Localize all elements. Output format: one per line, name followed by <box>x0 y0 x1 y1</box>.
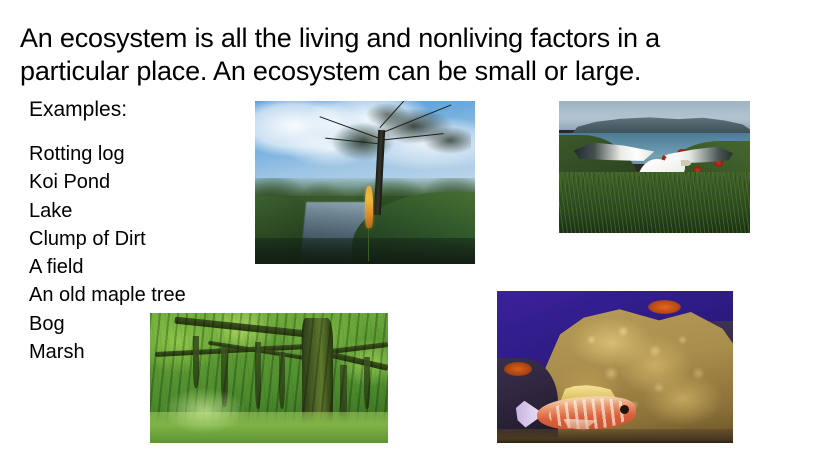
light-glow-layer <box>164 388 245 432</box>
albatross-beak <box>681 160 691 165</box>
tree-canopy-layer <box>321 104 471 169</box>
river-wetland-photo <box>255 101 475 264</box>
mossy-rainforest-photo <box>150 313 388 443</box>
seabed-layer <box>497 429 733 443</box>
coral-reef-photo <box>497 291 733 443</box>
orange-flower <box>365 186 373 228</box>
albatross-coast-photo <box>559 101 750 233</box>
foreground-shadow-layer <box>255 238 475 264</box>
list-item: An old maple tree <box>29 281 249 309</box>
flower-stem <box>368 225 369 261</box>
examples-label: Examples: <box>29 97 127 122</box>
list-item: Koi Pond <box>29 168 249 196</box>
foreground-grass-layer <box>559 172 750 233</box>
list-item: A field <box>29 253 249 281</box>
page-title: An ecosystem is all the living and nonli… <box>20 22 780 88</box>
title-line-1: An ecosystem is all the living and nonli… <box>20 22 780 55</box>
slide-canvas: An ecosystem is all the living and nonli… <box>0 0 828 466</box>
title-line-2: particular place. An ecosystem can be sm… <box>20 55 780 88</box>
list-item: Clump of Dirt <box>29 225 249 253</box>
list-item: Rotting log <box>29 140 249 168</box>
list-item: Lake <box>29 197 249 225</box>
